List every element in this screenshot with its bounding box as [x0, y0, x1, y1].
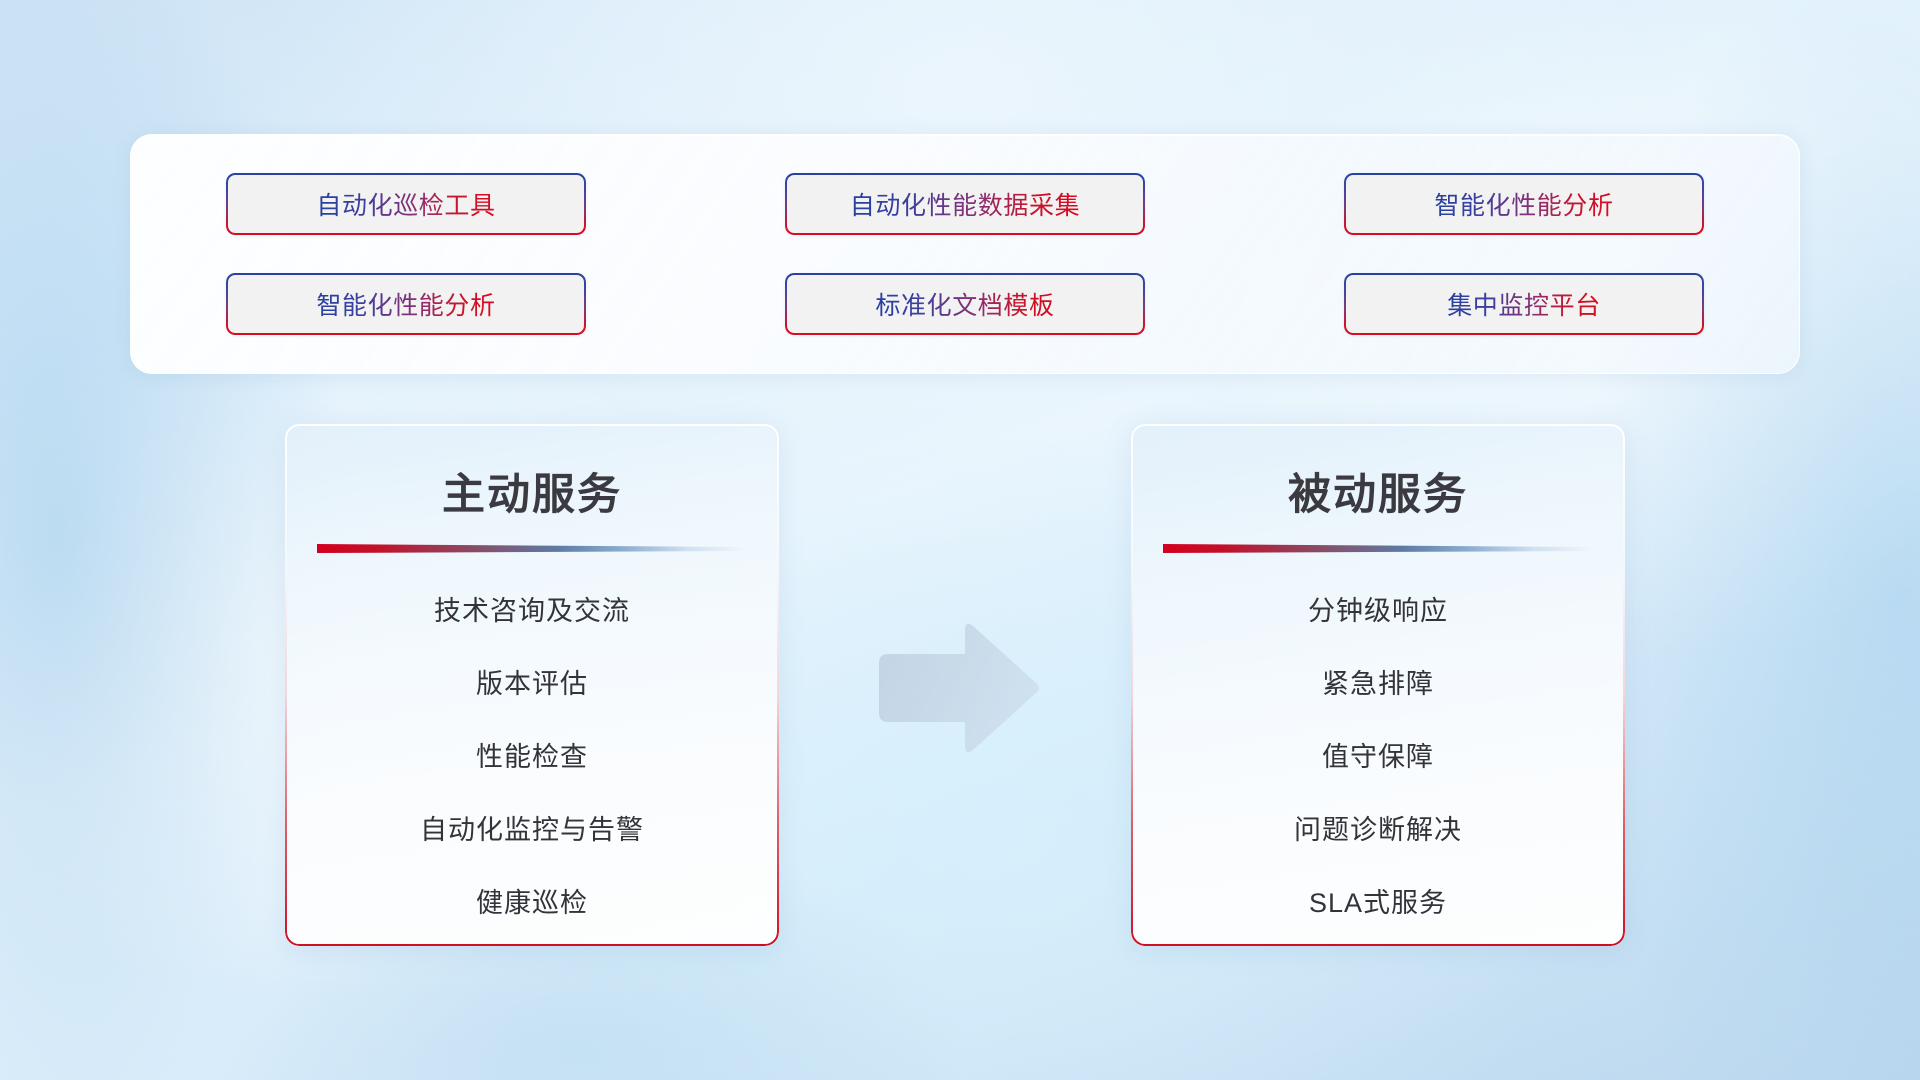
capability-tag-2[interactable]: 自动化性能数据采集	[785, 173, 1145, 235]
capability-tag-label: 自动化性能数据采集	[850, 186, 1080, 222]
capability-tags-panel: 自动化巡检工具 自动化性能数据采集 智能化性能分析 智能化性能分析 标准化文档模…	[130, 134, 1800, 374]
flow-arrow-right-icon	[873, 620, 1043, 755]
card-divider	[1163, 544, 1593, 553]
list-item: 性能检查	[476, 735, 588, 774]
list-item: 值守保障	[1322, 735, 1434, 774]
capability-tag-grid: 自动化巡检工具 自动化性能数据采集 智能化性能分析 智能化性能分析 标准化文档模…	[131, 135, 1799, 373]
list-item: 紧急排障	[1322, 662, 1434, 701]
capability-tag-label: 智能化性能分析	[1434, 186, 1613, 222]
capability-tag-label: 标准化文档模板	[875, 286, 1054, 322]
card-item-list: 技术咨询及交流 版本评估 性能检查 自动化监控与告警 健康巡检	[285, 589, 779, 920]
list-item: 版本评估	[476, 662, 588, 701]
card-divider	[317, 544, 747, 553]
service-card-reactive: 被动服务 分钟级响应 紧急排障 值守保障 问题诊断解决 SLA式服务	[1131, 424, 1625, 946]
list-item: 自动化监控与告警	[420, 808, 644, 847]
capability-tag-label: 智能化性能分析	[316, 286, 495, 322]
card-title: 被动服务	[1288, 460, 1468, 522]
capability-tag-6[interactable]: 集中监控平台	[1344, 273, 1704, 335]
capability-tag-label: 集中监控平台	[1447, 286, 1601, 322]
list-item: SLA式服务	[1309, 881, 1447, 920]
card-title: 主动服务	[442, 460, 622, 522]
list-item: 分钟级响应	[1308, 589, 1448, 628]
list-item: 问题诊断解决	[1294, 808, 1462, 847]
service-card-proactive: 主动服务 技术咨询及交流 版本评估 性能检查 自动化监控与告警 健康巡检	[285, 424, 779, 946]
list-item: 技术咨询及交流	[434, 589, 630, 628]
list-item: 健康巡检	[476, 881, 588, 920]
capability-tag-5[interactable]: 标准化文档模板	[785, 273, 1145, 335]
card-item-list: 分钟级响应 紧急排障 值守保障 问题诊断解决 SLA式服务	[1131, 589, 1625, 920]
capability-tag-3[interactable]: 智能化性能分析	[1344, 173, 1704, 235]
slide-canvas: 自动化巡检工具 自动化性能数据采集 智能化性能分析 智能化性能分析 标准化文档模…	[0, 0, 1920, 1080]
capability-tag-1[interactable]: 自动化巡检工具	[226, 173, 586, 235]
capability-tag-label: 自动化巡检工具	[316, 186, 495, 222]
capability-tag-4[interactable]: 智能化性能分析	[226, 273, 586, 335]
